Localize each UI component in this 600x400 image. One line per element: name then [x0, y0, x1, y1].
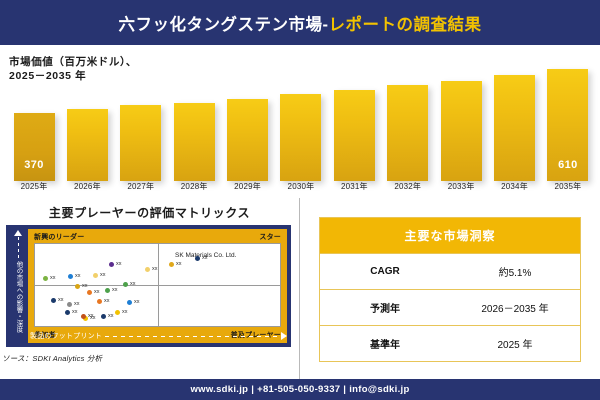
matrix-data-point-label: xx [130, 281, 136, 287]
x-axis-tick: 2030年 [279, 181, 323, 197]
matrix-data-point [145, 267, 150, 272]
matrix-data-point-label: xx [122, 309, 128, 315]
x-axis-tick: 2035年 [546, 181, 590, 197]
page-title-accent: レポートの調査結果 [329, 16, 482, 34]
table-row: CAGR約5.1% [320, 254, 581, 290]
quadrant-label-top-left: 新興のリーダー [34, 232, 84, 242]
matrix-data-point [51, 298, 56, 303]
matrix-data-point-label: xx [112, 287, 118, 293]
matrix-data-point [109, 262, 114, 267]
matrix-data-point [97, 299, 102, 304]
quadrant-label-top-right: スター [259, 232, 281, 242]
page-title: 六フッ化タングステン市場-レポートの調査結果 [119, 11, 482, 35]
infographic-page: 六フッ化タングステン市場-レポートの調査結果 市場価値（百万米ドル）、 2025… [0, 0, 600, 400]
source-note: ソース：SDKI Analytics 分析 [2, 353, 102, 364]
matrix-data-point-label: xx [134, 299, 140, 305]
matrix-data-point [101, 314, 106, 319]
quadrant-divider-horizontal [35, 285, 280, 286]
matrix-data-point [65, 310, 70, 315]
footer-bar: www.sdki.jp | +81-505-050-9337 | info@sd… [0, 379, 600, 400]
bar-slot [119, 51, 163, 181]
bar-slot [172, 51, 216, 181]
matrix-data-point [68, 274, 73, 279]
arrow-up-icon [14, 230, 22, 236]
matrix-panel: 主要プレーヤーの評価マトリックス 他の市場への影響・深度 新興のリーダー スター… [0, 198, 300, 379]
matrix-data-point [93, 273, 98, 278]
x-axis-tick: 2029年 [226, 181, 270, 197]
bar-slot [493, 51, 537, 181]
bar-value-label: 610 [547, 159, 588, 171]
table-row: 基準年2025 年 [320, 326, 581, 362]
bar-slot [65, 51, 109, 181]
x-axis-tick: 2025年 [12, 181, 56, 197]
bar-chart-plot: 370610 [12, 51, 590, 181]
matrix-data-point [67, 302, 72, 307]
matrix-data-point [169, 262, 174, 267]
matrix-data-point-label: xx [202, 255, 208, 261]
bar-2031年 [334, 90, 375, 181]
bar-slot [386, 51, 430, 181]
bar-2035年: 610 [547, 69, 588, 181]
x-axis-tick: 2033年 [439, 181, 483, 197]
bar-slot: 610 [546, 51, 590, 181]
matrix-data-point [81, 314, 86, 319]
matrix-x-axis: 製品のフットプリント [28, 328, 287, 344]
insight-value: 2026－2035 年 [450, 290, 581, 326]
bar-value-label: 370 [14, 159, 55, 171]
title-bar: 六フッ化タングステン市場-レポートの調査結果 [0, 0, 600, 45]
insight-key: CAGR [320, 254, 451, 290]
table-row: 予測年2026－2035 年 [320, 290, 581, 326]
matrix-data-point [87, 290, 92, 295]
matrix-data-point-label: xx [72, 309, 78, 315]
footer-contact-text: www.sdki.jp | +81-505-050-9337 | info@sd… [190, 384, 409, 395]
lower-section: 主要プレーヤーの評価マトリックス 他の市場への影響・深度 新興のリーダー スター… [0, 198, 600, 379]
matrix-data-point-label: xx [116, 261, 122, 267]
bar-2032年 [387, 85, 428, 181]
matrix-data-point [115, 310, 120, 315]
page-title-main: 六フッ化タングステン市場- [119, 16, 329, 34]
insight-key: 基準年 [320, 326, 451, 362]
matrix-data-point [75, 284, 80, 289]
matrix-data-point-label: xx [94, 289, 100, 295]
matrix-data-point-label: xx [176, 261, 182, 267]
bar-2025年: 370 [14, 113, 55, 181]
matrix-frame: 他の市場への影響・深度 新興のリーダー スター 参加者 普及プレーヤー SK M… [6, 225, 291, 347]
bar-2027年 [120, 105, 161, 181]
matrix-data-point-label: xx [100, 272, 106, 278]
insights-table: 主要な市場洞察 CAGR約5.1%予測年2026－2035 年基準年2025 年 [319, 217, 581, 362]
matrix-data-point-label: xx [152, 266, 158, 272]
insight-key: 予測年 [320, 290, 451, 326]
x-axis-tick: 2027年 [119, 181, 163, 197]
bar-slot [439, 51, 483, 181]
x-axis-tick: 2028年 [172, 181, 216, 197]
x-axis-dashed-line [105, 336, 278, 337]
bar-2034年 [494, 75, 535, 181]
x-axis-tick: 2034年 [493, 181, 537, 197]
y-axis-dashed-line [18, 237, 19, 259]
matrix-data-point [105, 288, 110, 293]
matrix-x-axis-label: 製品のフットプリント [30, 331, 102, 341]
matrix-band: 新興のリーダー スター 参加者 普及プレーヤー SK Materials Co.… [28, 229, 287, 343]
matrix-data-point [123, 282, 128, 287]
matrix-data-point [195, 256, 200, 261]
bar-2026年 [67, 109, 108, 181]
bar-2028年 [174, 103, 215, 181]
matrix-scatter-area: SK Materials Co. Ltd. xxxxxxxxxxxxxxxxxx… [34, 243, 281, 327]
bar-2033年 [441, 81, 482, 181]
x-axis-tick: 2031年 [332, 181, 376, 197]
bar-slot [279, 51, 323, 181]
matrix-y-axis-label: 他の市場への影響・深度 [14, 261, 22, 333]
matrix-data-point-label: xx [88, 313, 94, 319]
insights-table-header: 主要な市場洞察 [320, 218, 581, 254]
bar-2029年 [227, 99, 268, 181]
matrix-data-point-label: xx [75, 273, 81, 279]
bar-slot [332, 51, 376, 181]
matrix-data-point [43, 276, 48, 281]
matrix-data-point-label: xx [58, 297, 64, 303]
bar-2030年 [280, 94, 321, 181]
x-axis-tick: 2026年 [65, 181, 109, 197]
bar-slot [226, 51, 270, 181]
matrix-data-point-label: xx [50, 275, 56, 281]
insights-panel: 主要な市場洞察 CAGR約5.1%予測年2026－2035 年基準年2025 年 [300, 198, 600, 379]
table-header-row: 主要な市場洞察 [320, 218, 581, 254]
insight-value: 約5.1% [450, 254, 581, 290]
bar-chart-block: 市場価値（百万米ドル）、 2025－2035 年 370610 2025年202… [0, 45, 600, 198]
matrix-data-point-label: xx [108, 313, 114, 319]
matrix-data-point-label: xx [74, 301, 80, 307]
matrix-title: 主要プレーヤーの評価マトリックス [0, 204, 299, 221]
bar-chart-x-axis: 2025年2026年2027年2028年2029年2030年2031年2032年… [12, 181, 590, 197]
matrix-y-axis: 他の市場への影響・深度 [9, 229, 27, 327]
matrix-data-point-label: xx [104, 298, 110, 304]
matrix-data-point-label: xx [82, 283, 88, 289]
matrix-data-point [127, 300, 132, 305]
x-axis-tick: 2032年 [386, 181, 430, 197]
bar-slot: 370 [12, 51, 56, 181]
insight-value: 2025 年 [450, 326, 581, 362]
arrow-right-icon [281, 332, 287, 340]
